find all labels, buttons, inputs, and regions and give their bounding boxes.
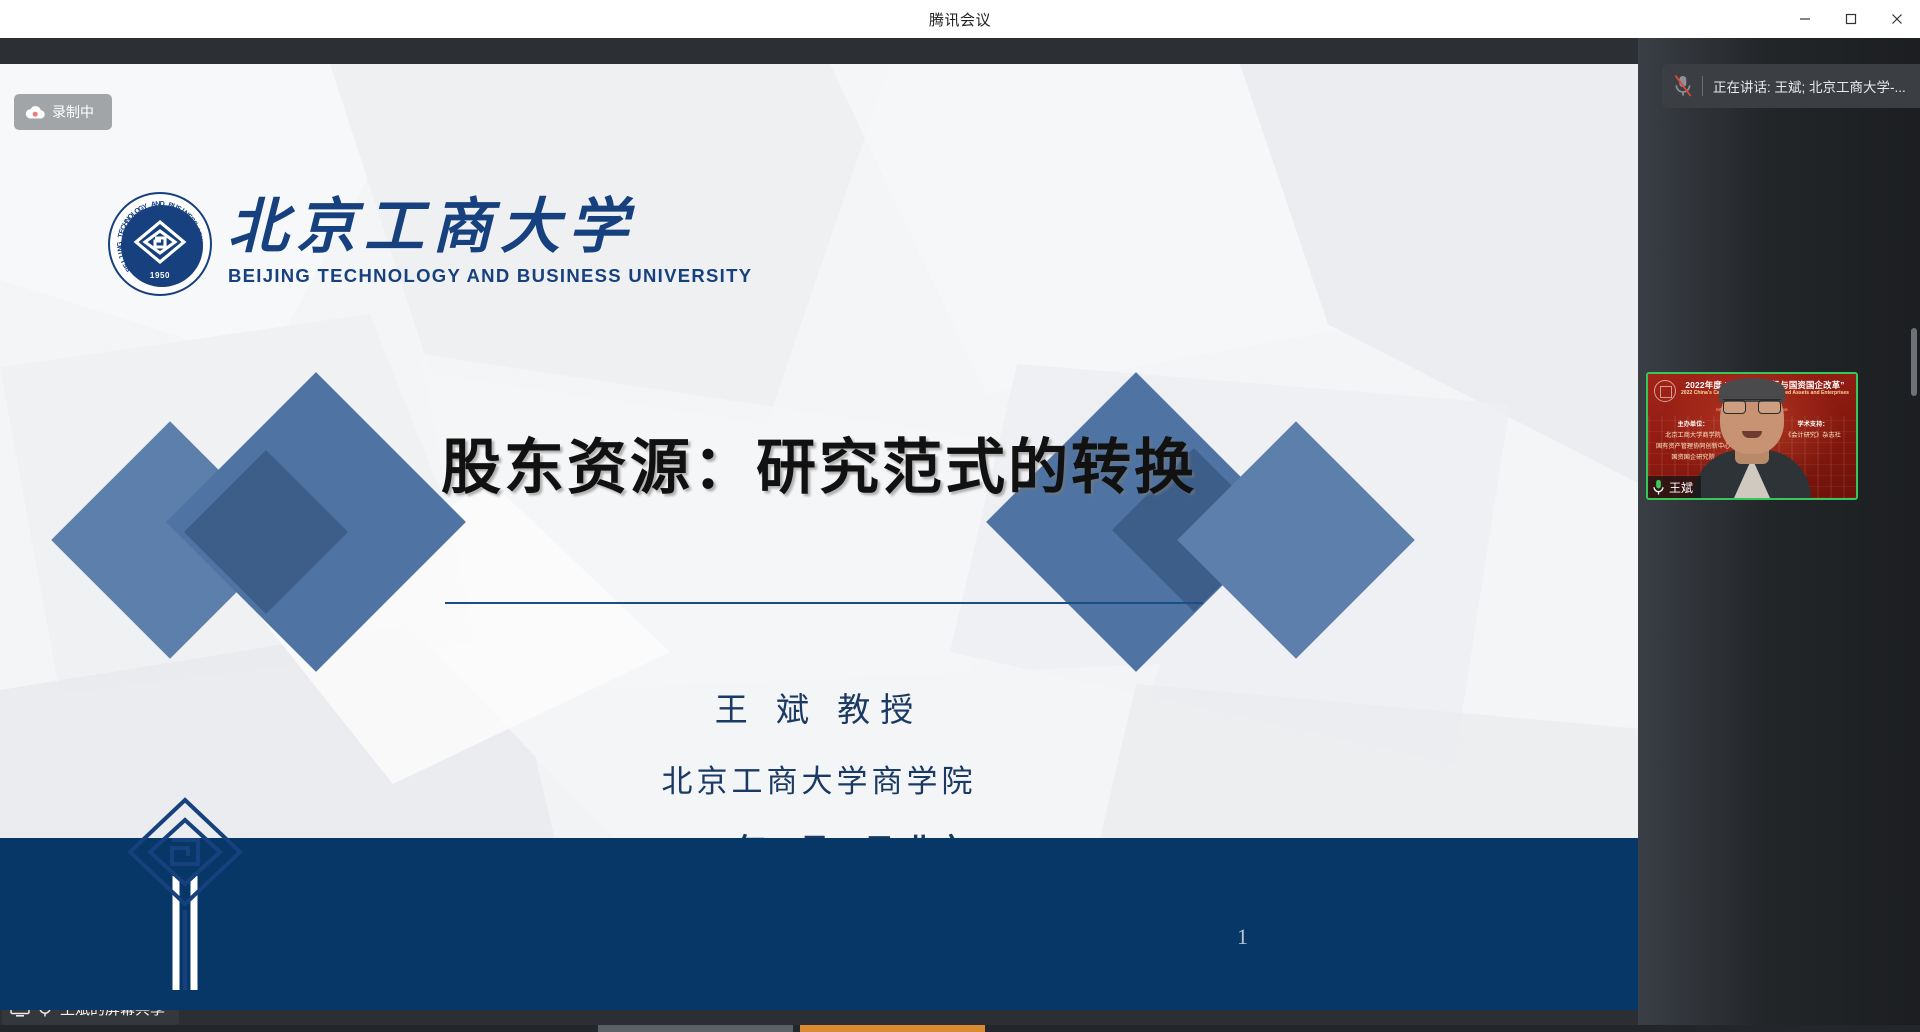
tile-name-badge: 王斌 [1648, 476, 1701, 498]
participant-video-tile[interactable]: 2022年度 “中国资本市场与国资国企改革” 2022 China's Capi… [1646, 372, 1858, 500]
mic-muted-icon [1672, 73, 1694, 99]
university-logo: 1950 BEIJING TECHNOLOGY AND BUSINESS UNI… [108, 192, 752, 296]
slide-page-number: 1 [1237, 924, 1248, 950]
slide-title: 股东资源：研究范式的转换 [0, 419, 1638, 506]
backdrop-seal-icon [1654, 380, 1676, 402]
window-titlebar: 腾讯会议 [0, 0, 1920, 38]
sidebar-scrollbar[interactable] [1911, 328, 1917, 396]
share-top-strip [0, 38, 1638, 64]
avatar-glasses [1723, 399, 1781, 412]
os-taskbar [0, 1025, 1920, 1032]
knot-ornament-icon [128, 790, 308, 990]
university-name-en: BEIJING TECHNOLOGY AND BUSINESS UNIVERSI… [228, 265, 752, 287]
window-title: 腾讯会议 [929, 9, 991, 30]
mic-on-icon [1652, 479, 1665, 496]
recording-label: 录制中 [52, 102, 94, 122]
participant-avatar [1693, 382, 1811, 498]
window-controls [1782, 0, 1920, 38]
close-button[interactable] [1874, 0, 1920, 38]
toast-divider [1702, 76, 1703, 96]
speaking-toast: 正在讲话: 王斌; 北京工商大学-... [1662, 64, 1920, 108]
cloud-record-icon [25, 106, 45, 119]
center-divider-rule [445, 602, 1203, 604]
shared-screen-area: 录制中 1950 BEIJING TECHNOLOGY AND BUSINESS [0, 64, 1638, 1010]
participants-sidebar: 正在讲话: 王斌; 北京工商大学-... 2022年度 “中国资本市场与国资国企… [1638, 38, 1920, 1032]
maximize-button[interactable] [1828, 0, 1874, 38]
taskbar-active-segment[interactable] [800, 1025, 985, 1032]
meeting-app: 录制中 1950 BEIJING TECHNOLOGY AND BUSINESS [0, 38, 1920, 1032]
participant-name: 王斌 [1669, 479, 1693, 496]
recording-badge[interactable]: 录制中 [14, 94, 112, 130]
minimize-button[interactable] [1782, 0, 1828, 38]
university-seal-icon: 1950 BEIJING TECHNOLOGY AND BUSINESS UNI… [108, 192, 212, 296]
speaking-status-text: 正在讲话: 王斌; 北京工商大学-... [1713, 76, 1906, 96]
presenter-name: 王 斌 教授 [0, 683, 1638, 731]
university-name-cn: 北京工商大学 [228, 196, 752, 259]
taskbar-window-segment[interactable] [598, 1025, 793, 1032]
seal-ring-text: BEIJING TECHNOLOGY AND BUSINESS UNIVERSI… [110, 194, 210, 294]
university-name-block: 北京工商大学 BEIJING TECHNOLOGY AND BUSINESS U… [228, 192, 752, 287]
